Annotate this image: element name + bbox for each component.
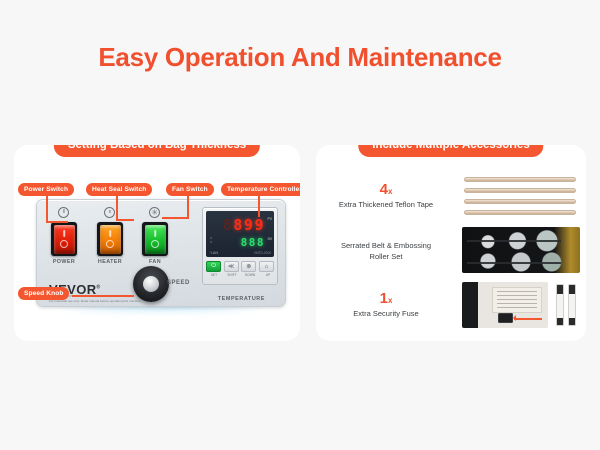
temperature-caption: TEMPERATURE (218, 296, 265, 302)
power-icon (58, 207, 69, 218)
panel-face: POWER HEATER FAN SPEED VEVOR® SEALING MA… (36, 199, 286, 307)
callout-power-switch: Power Switch (18, 183, 74, 196)
belt-roller-photo (462, 227, 580, 273)
controller-model: XMTD-2000 (254, 251, 271, 255)
down-button-label: DOWN (242, 273, 258, 277)
accessory-row-security-fuse: 1x Extra Security Fuse (316, 282, 586, 328)
leader-line-power (46, 195, 48, 223)
fan-switch-label: FAN (135, 259, 175, 265)
fan-icon (149, 207, 160, 218)
leader-line-temp (258, 195, 260, 217)
accessory-qty-teflon: 4x (316, 182, 456, 197)
indicator-ticks: == (210, 236, 212, 244)
controller-button-row: ⏻ ≪ ⊗ ⌂ (206, 261, 274, 272)
accessory-row-teflon-tape: 4x Extra Thickened Teflon Tape (316, 173, 586, 219)
callout-temperature-controller: Temperature Controller (221, 183, 300, 196)
fuse-photo (462, 282, 580, 328)
pointer-arrow-icon (514, 318, 542, 320)
accessory-text-belt: Serrated Belt & Embossing Roller Set (316, 238, 462, 261)
left-card-header: Setting Based on Bag Thickness (54, 145, 260, 157)
page-title: Easy Operation And Maintenance (0, 42, 600, 73)
teflon-tape-strip (464, 177, 576, 182)
glass-fuse (556, 284, 564, 326)
heat-icon (104, 207, 115, 218)
left-card: Setting Based on Bag Thickness Power Swi… (14, 145, 300, 341)
up-button[interactable]: ⌂ (259, 261, 274, 272)
trademark-symbol: ® (97, 285, 101, 291)
accessory-name-fuse: Extra Security Fuse (316, 309, 456, 319)
accessory-name-belt: Serrated Belt & Embossing Roller Set (316, 241, 456, 261)
leader-line-fan-h (162, 217, 189, 219)
callout-speed-knob: Speed Knob (18, 287, 69, 300)
shift-button-label: SHIFT (224, 273, 240, 277)
sv-unit-label: SV (267, 237, 272, 241)
belt-roller-image (462, 227, 580, 273)
up-button-label: UP (260, 273, 276, 277)
accessory-qty-fuse: 1x (316, 291, 456, 306)
down-button[interactable]: ⊗ (241, 261, 256, 272)
accessory-name-teflon: Extra Thickened Teflon Tape (316, 200, 456, 210)
right-card: Include Multiple Accessories 4x Extra Th… (316, 145, 586, 341)
leader-line-heat-h (116, 219, 134, 221)
machine-control-panel: POWER HEATER FAN SPEED VEVOR® SEALING MA… (36, 199, 286, 307)
accessory-text-teflon: 4x Extra Thickened Teflon Tape (316, 182, 462, 210)
security-fuse-image (462, 282, 580, 328)
power-switch[interactable] (51, 222, 77, 256)
shift-button[interactable]: ≪ (224, 261, 239, 272)
pv-display: 8899 (223, 216, 265, 234)
teflon-tape-strip (464, 210, 576, 215)
set-button[interactable]: ⏻ (206, 261, 221, 272)
power-switch-label: POWER (44, 259, 84, 265)
sv-display: 888 (241, 236, 265, 249)
teflon-tape-strip (464, 188, 576, 193)
controller-screen: 8899 PV 888 SV == Y.AN XMTD-2000 (206, 211, 274, 257)
callout-heat-seal-switch: Heat Seal Switch (86, 183, 152, 196)
leader-line-fan (187, 195, 189, 219)
fineprint-line-2: For industrial use only. Read manual bef… (49, 299, 159, 304)
fan-switch[interactable] (142, 222, 168, 256)
infographic-page: Easy Operation And Maintenance Setting B… (0, 0, 600, 450)
speed-knob-label: SPEED (167, 280, 190, 286)
leader-line-power-h (46, 221, 68, 223)
teflon-tape-strip (464, 199, 576, 204)
teflon-tape-image (462, 173, 580, 219)
heater-switch-label: HEATER (90, 259, 130, 265)
set-button-label: SET (206, 273, 222, 277)
temperature-controller[interactable]: 8899 PV 888 SV == Y.AN XMTD-2000 ⏻ ≪ ⊗ (202, 207, 278, 285)
controller-brand: Y.AN (210, 251, 218, 255)
glass-fuse (568, 284, 576, 326)
leader-line-heat (116, 195, 118, 221)
leader-line-knob (72, 295, 134, 297)
accessory-text-fuse: 1x Extra Security Fuse (316, 291, 462, 319)
heat-seal-switch[interactable] (97, 222, 123, 256)
rating-plate (492, 287, 542, 313)
right-card-header: Include Multiple Accessories (358, 145, 543, 157)
pv-unit-label: PV (267, 217, 272, 221)
callout-fan-switch: Fan Switch (166, 183, 214, 196)
accessory-row-belt-roller: Serrated Belt & Embossing Roller Set (316, 227, 586, 273)
